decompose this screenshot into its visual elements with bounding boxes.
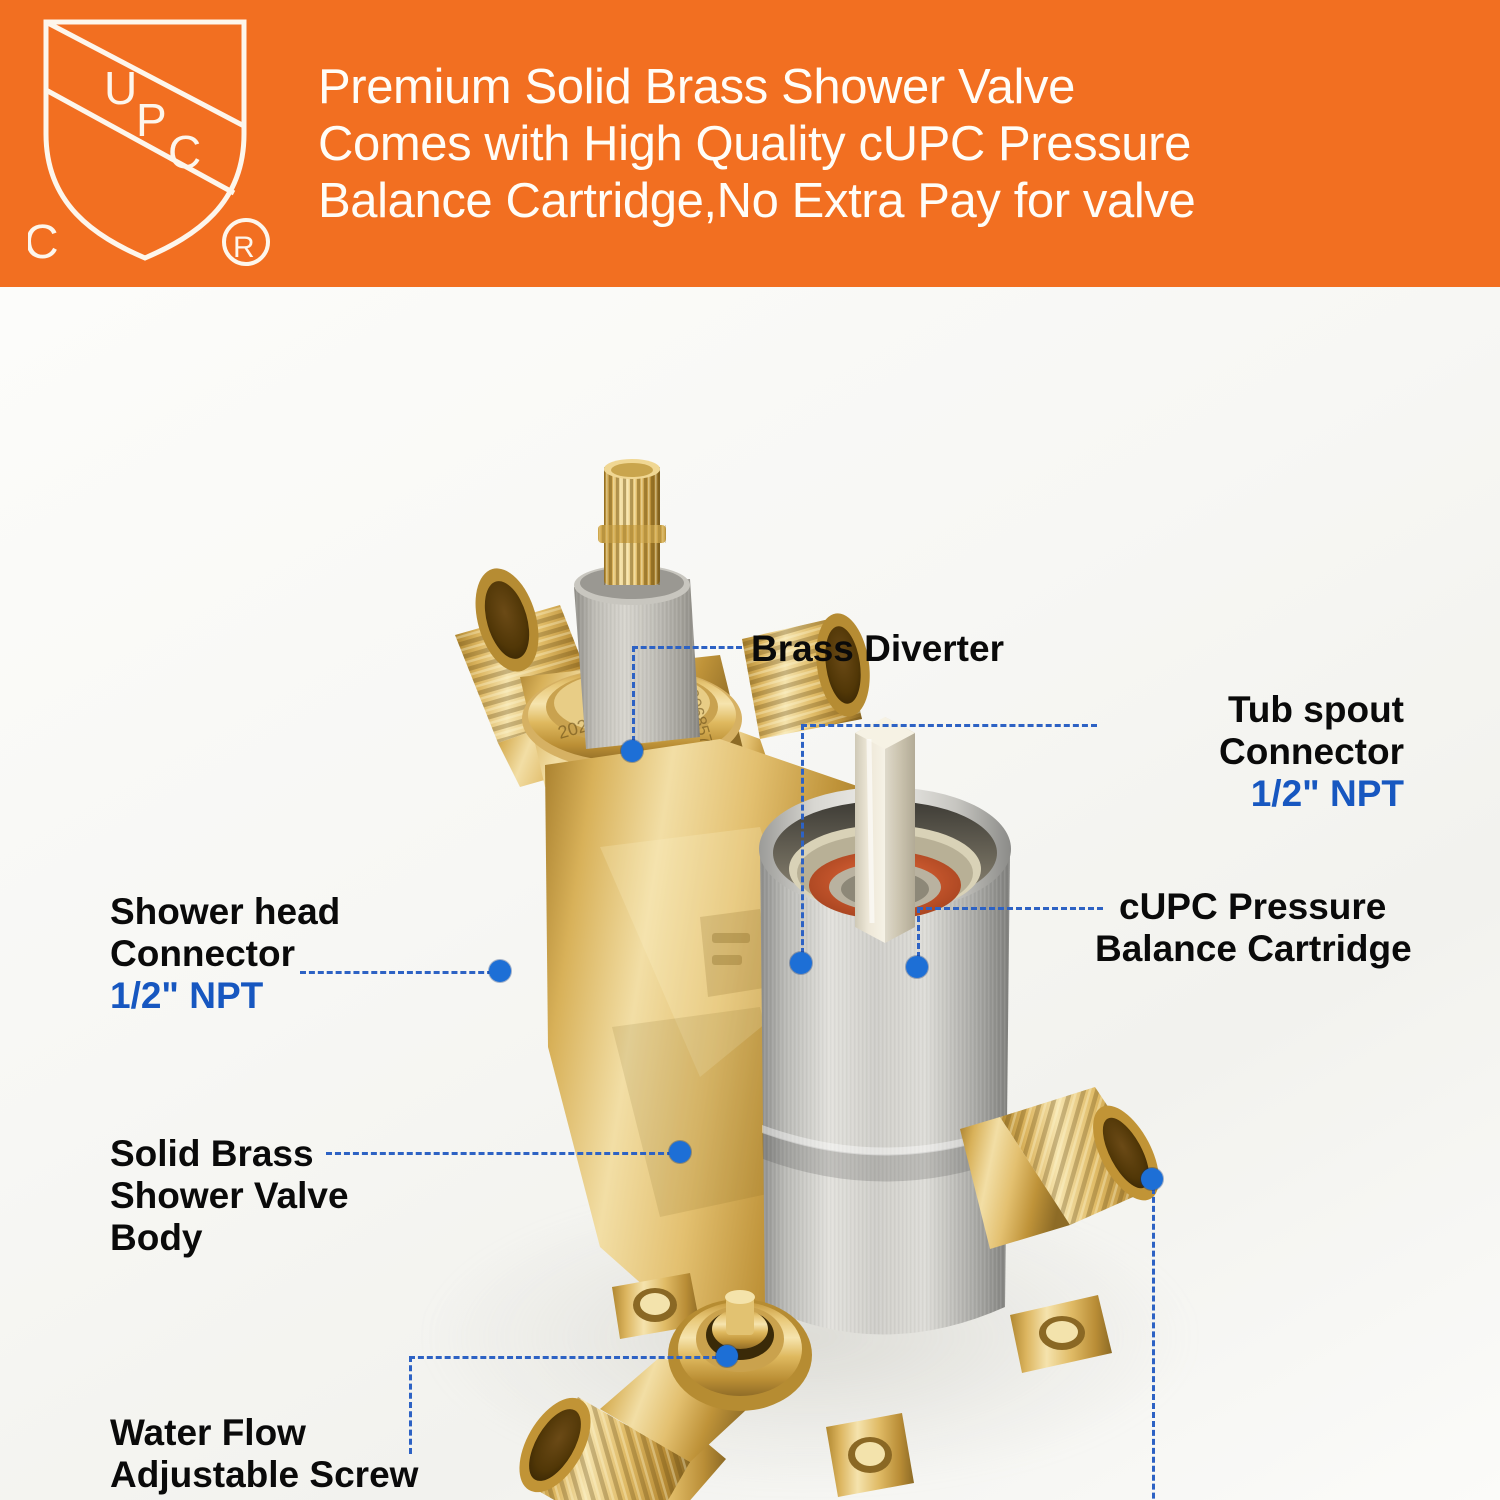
leader-dot-shower-head xyxy=(489,960,511,982)
leader-dot-cold-water xyxy=(1141,1168,1163,1190)
callout-brass-diverter: Brass Diverter xyxy=(751,628,1004,670)
callout-body-line-2: Shower Valve xyxy=(110,1175,349,1217)
leader-dot-brass-diverter xyxy=(621,740,643,762)
leader-brass-diverter-h xyxy=(632,646,742,649)
headline-line-3: Balance Cartridge,No Extra Pay for valve xyxy=(318,173,1195,230)
callout-shower-head-npt: 1/2" NPT xyxy=(110,975,340,1017)
headline-line-2: Comes with High Quality cUPC Pressure xyxy=(318,116,1195,173)
callout-tub-spout-line-2: Connector xyxy=(1219,731,1404,773)
header-banner: U P C C R Premium Solid Brass Shower Val… xyxy=(0,0,1500,287)
callout-shower-head-connector: Shower head Connector 1/2" NPT xyxy=(110,891,340,1018)
callout-cupc-cartridge: cUPC Pressure Balance Cartridge xyxy=(1119,886,1412,970)
leader-brass-diverter-v xyxy=(632,646,635,751)
svg-text:U: U xyxy=(104,62,137,114)
leader-tub-spout-h xyxy=(801,724,1097,727)
callout-shower-head-line-2: Connector xyxy=(110,933,340,975)
svg-text:R: R xyxy=(233,231,255,264)
callout-solid-brass-body: Solid Brass Shower Valve Body xyxy=(110,1133,349,1260)
shield-icon: U P C C R xyxy=(28,8,280,270)
leader-valve-body-h xyxy=(326,1152,682,1155)
leader-dot-tub-spout xyxy=(790,952,812,974)
svg-text:C: C xyxy=(168,126,201,178)
leader-dot-adjust-screw xyxy=(716,1345,738,1367)
svg-text:C: C xyxy=(28,216,59,269)
banner-headline: Premium Solid Brass Shower Valve Comes w… xyxy=(300,59,1195,231)
headline-line-1: Premium Solid Brass Shower Valve xyxy=(318,59,1195,116)
callout-water-flow-screw: Water Flow Adjustable Screw xyxy=(110,1412,418,1496)
callout-brass-diverter-line-1: Brass Diverter xyxy=(751,628,1004,670)
callout-cupc-line-1: cUPC Pressure xyxy=(1119,886,1412,928)
callout-tub-spout-npt: 1/2" NPT xyxy=(1219,773,1404,815)
cupc-pressure-balance-cartridge xyxy=(759,717,1011,1335)
leader-adjust-screw-h xyxy=(409,1356,727,1359)
callout-cupc-line-2: Balance Cartridge xyxy=(1095,928,1412,970)
callout-tub-spout-line-1: Tub spout xyxy=(1219,689,1404,731)
callout-screw-line-2: Adjustable Screw xyxy=(110,1454,418,1496)
leader-cold-water-v xyxy=(1152,1179,1155,1500)
leader-tub-spout-v xyxy=(801,724,804,963)
callout-screw-line-1: Water Flow xyxy=(110,1412,418,1454)
cupc-shield-logo: U P C C R xyxy=(0,0,300,287)
leader-dot-cartridge xyxy=(906,956,928,978)
callout-shower-head-line-1: Shower head xyxy=(110,891,340,933)
callout-tub-spout-connector: Tub spout Connector 1/2" NPT xyxy=(1219,689,1404,816)
product-photo-stage: 2021 0068570 xyxy=(0,287,1500,1500)
brass-diverter-assembly xyxy=(574,459,700,749)
callout-body-line-3: Body xyxy=(110,1217,349,1259)
svg-text:P: P xyxy=(136,94,167,146)
leader-cartridge-h xyxy=(917,907,1103,910)
callout-body-line-1: Solid Brass xyxy=(110,1133,349,1175)
leader-dot-valve-body xyxy=(669,1141,691,1163)
